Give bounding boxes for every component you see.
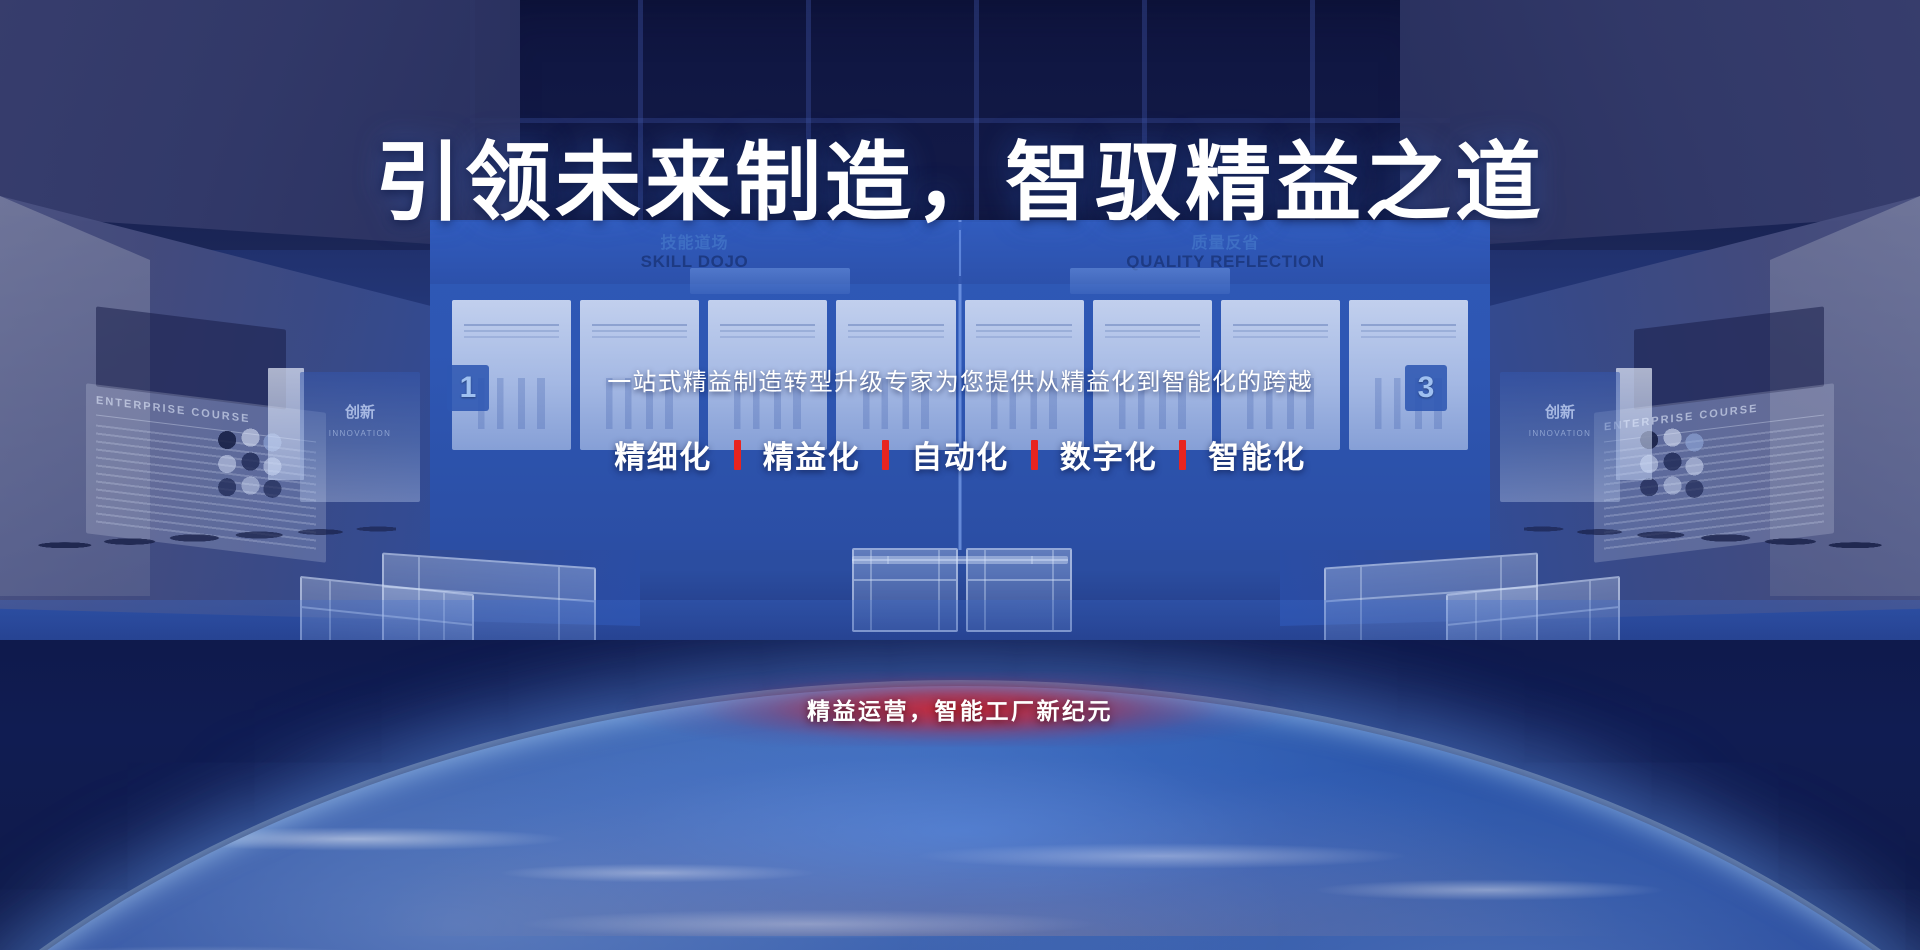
hero-keyword: 精细化 (592, 432, 734, 477)
hero-keyword: 自动化 (889, 432, 1031, 477)
hero-keyword: 数字化 (1038, 432, 1180, 477)
hero-headline: 引领未来制造，智驭精益之道 (0, 140, 1920, 226)
hero-keyword: 智能化 (1186, 432, 1328, 477)
tagline-text: 精益运营，智能工厂新纪元 (807, 692, 1113, 726)
keyword-separator-icon (1031, 440, 1038, 470)
keyword-separator-icon (734, 440, 741, 470)
keyword-separator-icon (1179, 440, 1186, 470)
hero-content: 引领未来制造，智驭精益之道 一站式精益制造转型升级专家为您提供从精益化到智能化的… (0, 0, 1920, 950)
hero-keyword-list: 精细化 精益化 自动化 数字化 智能化 (0, 432, 1920, 477)
hero-keyword: 精益化 (741, 432, 883, 477)
hero-subtitle: 一站式精益制造转型升级专家为您提供从精益化到智能化的跨越 (0, 362, 1920, 397)
hero-banner: 技能道场 SKILL DOJO 质量反省 QUALITY REFLECTION … (0, 0, 1920, 950)
keyword-separator-icon (882, 440, 889, 470)
hero-tagline-banner: 精益运营，智能工厂新纪元 (0, 672, 1920, 746)
